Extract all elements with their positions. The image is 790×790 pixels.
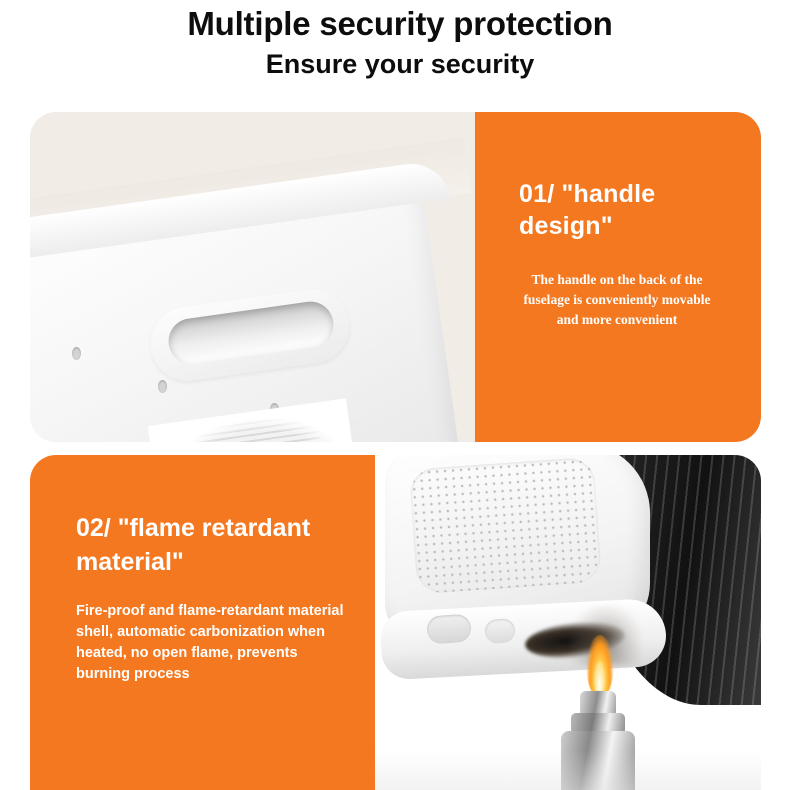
page-title: Multiple security protection bbox=[0, 4, 790, 44]
card-title-handle: 01/ "handle design" bbox=[519, 178, 721, 242]
screw-dot-icon bbox=[72, 347, 81, 360]
flame-core bbox=[594, 661, 605, 695]
product-photo-flame bbox=[375, 455, 761, 790]
feature-card-handle-design: 01/ "handle design" The handle on the ba… bbox=[30, 112, 761, 442]
product-photo-handle bbox=[30, 112, 475, 442]
photo-bottom-shadow bbox=[375, 750, 761, 790]
page-subtitle: Ensure your security bbox=[0, 44, 790, 82]
screw-dot-icon bbox=[158, 380, 167, 393]
feature-card-flame-retardant: 02/ "flame retardant material" Fire-proo… bbox=[30, 455, 761, 790]
card-title-flame: 02/ "flame retardant material" bbox=[76, 511, 353, 579]
feature-card-text-handle: 01/ "handle design" The handle on the ba… bbox=[475, 112, 761, 442]
feature-card-text-flame: 02/ "flame retardant material" Fire-proo… bbox=[30, 455, 375, 790]
heater-button bbox=[426, 613, 472, 644]
promo-page: Multiple security protection Ensure your… bbox=[0, 0, 790, 790]
heading-block: Multiple security protection Ensure your… bbox=[0, 0, 790, 82]
heater-mesh-grille bbox=[409, 457, 602, 595]
card-body-handle: The handle on the back of the fuselage i… bbox=[519, 270, 721, 330]
card-body-flame: Fire-proof and flame-retardant material … bbox=[76, 601, 353, 685]
